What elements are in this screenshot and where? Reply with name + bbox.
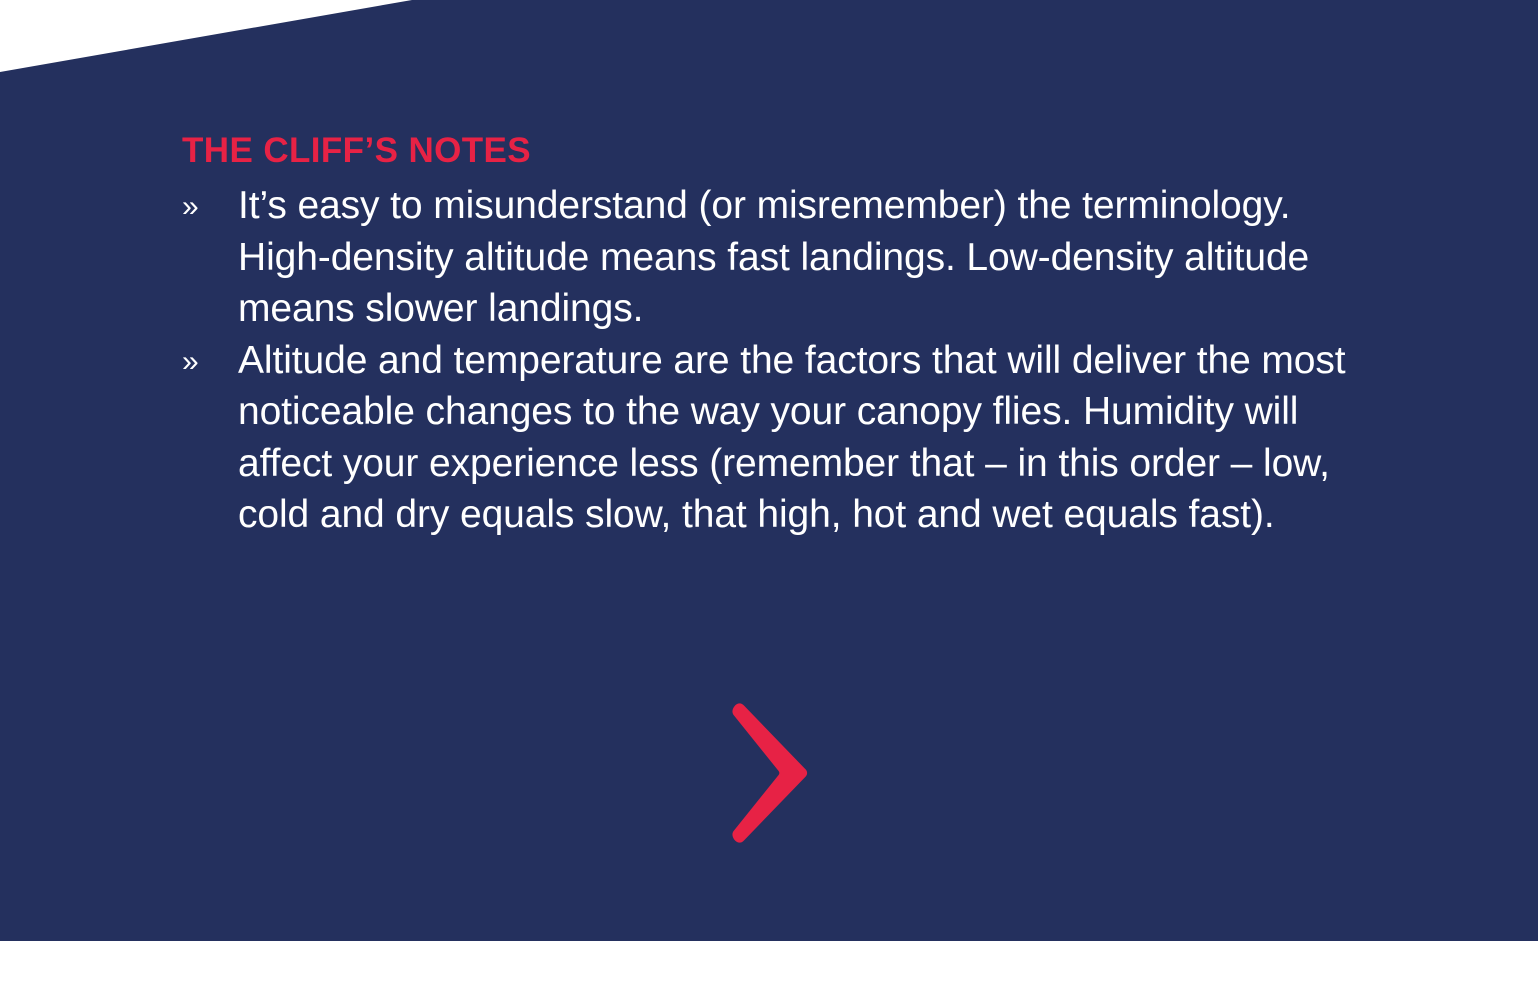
list-item-text: Altitude and temperature are the factors… — [238, 335, 1382, 541]
list-item: » It’s easy to misunderstand (or misreme… — [182, 180, 1382, 335]
callout-content: THE CLIFF’S NOTES » It’s easy to misunde… — [182, 131, 1382, 541]
list-item-text: It’s easy to misunderstand (or misrememb… — [238, 180, 1382, 335]
list-item: » Altitude and temperature are the facto… — [182, 335, 1382, 541]
bullet-marker-icon: » — [182, 180, 222, 233]
bullet-marker-icon: » — [182, 335, 222, 388]
cliffs-notes-bullet-list: » It’s easy to misunderstand (or misreme… — [182, 180, 1382, 541]
slide-canvas: THE CLIFF’S NOTES » It’s easy to misunde… — [0, 0, 1538, 982]
chevron-right-icon — [730, 702, 808, 844]
page-title: THE CLIFF’S NOTES — [182, 131, 1382, 171]
